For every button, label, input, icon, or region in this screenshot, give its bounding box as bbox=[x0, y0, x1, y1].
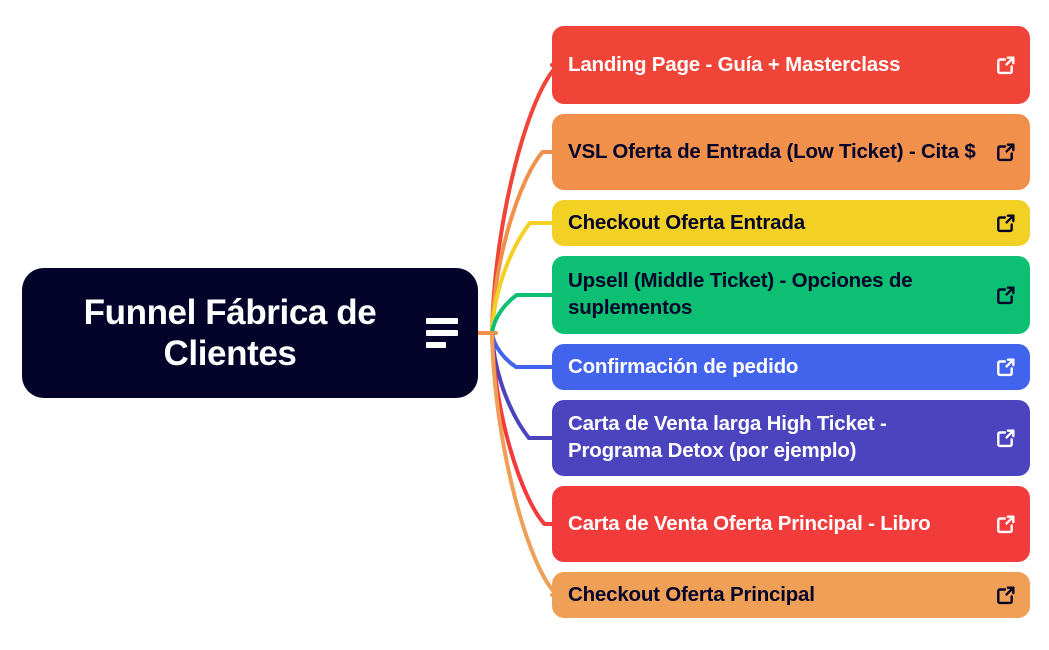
branch-card-label: Upsell (Middle Ticket) - Opciones de sup… bbox=[568, 268, 994, 321]
branch-card-label: VSL Oferta de Entrada (Low Ticket) - Cit… bbox=[568, 139, 994, 166]
branch-card[interactable]: Upsell (Middle Ticket) - Opciones de sup… bbox=[552, 256, 1030, 334]
branch-connector bbox=[492, 295, 552, 333]
branch-card[interactable]: Confirmación de pedido bbox=[552, 344, 1030, 390]
external-link-icon[interactable] bbox=[994, 583, 1018, 607]
external-link-icon[interactable] bbox=[994, 140, 1018, 164]
branch-card[interactable]: Checkout Oferta Entrada bbox=[552, 200, 1030, 246]
branch-connector bbox=[492, 333, 557, 595]
branch-card-label: Landing Page - Guía + Masterclass bbox=[568, 52, 994, 79]
branch-card-label: Carta de Venta Oferta Principal - Libro bbox=[568, 511, 994, 538]
branch-card[interactable]: VSL Oferta de Entrada (Low Ticket) - Cit… bbox=[552, 114, 1030, 190]
external-link-icon[interactable] bbox=[994, 53, 1018, 77]
branch-card-label: Confirmación de pedido bbox=[568, 354, 994, 381]
branch-card[interactable]: Carta de Venta larga High Ticket - Progr… bbox=[552, 400, 1030, 476]
branch-card-label: Carta de Venta larga High Ticket - Progr… bbox=[568, 411, 994, 464]
branch-card-label: Checkout Oferta Entrada bbox=[568, 210, 994, 237]
external-link-icon[interactable] bbox=[994, 355, 1018, 379]
root-node[interactable]: Funnel Fábrica de Clientes bbox=[22, 268, 478, 398]
branch-card[interactable]: Landing Page - Guía + Masterclass bbox=[552, 26, 1030, 104]
branch-connector bbox=[492, 65, 558, 333]
external-link-icon[interactable] bbox=[994, 512, 1018, 536]
align-left-list-icon[interactable] bbox=[426, 318, 462, 348]
external-link-icon[interactable] bbox=[994, 283, 1018, 307]
branch-card[interactable]: Carta de Venta Oferta Principal - Libro bbox=[552, 486, 1030, 562]
branch-card[interactable]: Checkout Oferta Principal bbox=[552, 572, 1030, 618]
external-link-icon[interactable] bbox=[994, 426, 1018, 450]
root-node-label: Funnel Fábrica de Clientes bbox=[40, 292, 420, 375]
branch-card-label: Checkout Oferta Principal bbox=[568, 582, 994, 609]
mindmap-canvas: Funnel Fábrica de Clientes Landing Page … bbox=[0, 0, 1049, 650]
branch-connector bbox=[492, 333, 552, 367]
external-link-icon[interactable] bbox=[994, 211, 1018, 235]
